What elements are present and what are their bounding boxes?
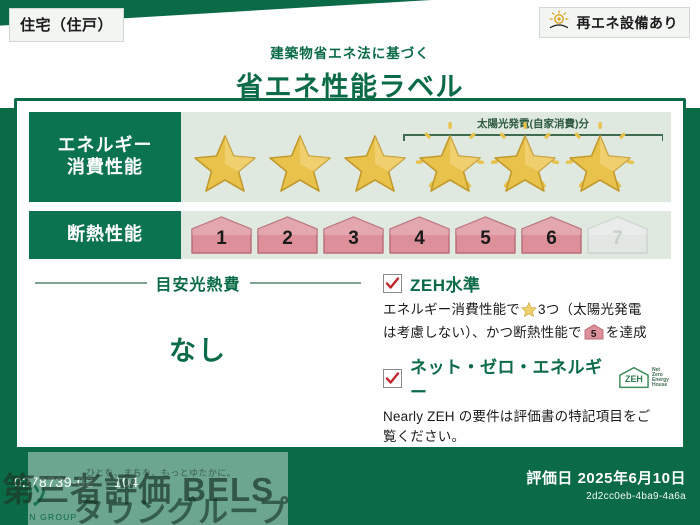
insulation-level-badge: 4 <box>388 215 451 255</box>
insulation-performance-value: 1234567 <box>181 211 671 259</box>
desc-part-1: Nearly ZEH の要件は評価書の特記項目をご <box>383 409 651 424</box>
page-title: 省エネ性能ラベル <box>0 65 700 104</box>
insulation-level-value: 4 <box>388 228 451 250</box>
insulation-badge-inline-value: 5 <box>584 328 604 343</box>
footer-left: 0278739-02 104 <box>14 474 139 490</box>
star-icon <box>414 122 487 192</box>
check-description-zeh-standard: エネルギー消費性能で3つ（太陽光発電は考慮しない）、かつ断熱性能で5を達成 <box>383 300 671 342</box>
star-rating <box>181 122 637 192</box>
insulation-performance-label-box: 断熱性能 <box>29 211 181 259</box>
utility-cost-panel: 目安光熱費 なし <box>29 271 377 447</box>
renewable-energy-label: 再エネ設備あり <box>577 13 679 33</box>
check-icon <box>385 371 400 386</box>
insulation-level-badge: 1 <box>190 215 253 255</box>
insulation-level-badge: 5 <box>454 215 517 255</box>
energy-performance-label-box: エネルギー 消費性能 <box>29 112 181 202</box>
check-title-row: ネット・ゼロ・エネルギー ZEH Net Zero Energy House <box>383 353 671 403</box>
evaluation-date-label: 評価日 <box>526 470 573 487</box>
energy-performance-value: 太陽光発電(自家消費)分 <box>181 112 671 202</box>
utility-cost-heading: 目安光熱費 <box>29 271 367 295</box>
zeh-logo-subtext: Net Zero Energy House <box>652 368 671 389</box>
certification-checks: ZEH水準 エネルギー消費性能で3つ（太陽光発電は考慮しない）、かつ断熱性能で5… <box>377 271 671 447</box>
star-icon <box>489 122 562 192</box>
insulation-level-value: 3 <box>322 228 385 250</box>
check-title-row: ZEH水準 <box>383 271 671 296</box>
check-icon <box>385 276 400 291</box>
insulation-level-badge: 3 <box>322 215 385 255</box>
desc-part-2: 3つ（太陽光発電 <box>538 302 642 317</box>
desc-part-3: は考慮しない）、かつ断熱性能で <box>383 325 582 340</box>
insulation-label: 断熱性能 <box>67 224 143 246</box>
checkbox-net-zero-energy[interactable] <box>383 369 402 388</box>
energy-label-line2: 消費性能 <box>67 157 143 179</box>
label-card: エネルギー 消費性能 太陽光発電(自家消費)分 断熱性能 1234567 <box>14 98 686 450</box>
certificate-number: 0278739-02 <box>14 474 94 490</box>
insulation-level-badge: 7 <box>586 215 649 255</box>
title-subtitle: 建築物省エネ法に基づく <box>0 42 700 62</box>
checkbox-zeh-standard[interactable] <box>383 274 402 293</box>
check-item-net-zero-energy: ネット・ゼロ・エネルギー ZEH Net Zero Energy House N… <box>383 353 671 446</box>
star-icon <box>339 122 412 192</box>
evaluation-date-value: 2025年6月10日 <box>578 470 686 487</box>
star-icon <box>564 122 637 192</box>
insulation-performance-row: 断熱性能 1234567 <box>29 211 671 259</box>
insulation-badge-inline: 5 <box>584 324 604 340</box>
housing-type-chip: 住宅（住戸） <box>9 8 124 42</box>
footer-bar: 0278739-02 104 評価日 2025年6月10日 2d2cc0eb-4… <box>0 452 700 525</box>
utility-cost-value: なし <box>29 329 367 368</box>
rule-right <box>250 282 362 284</box>
insulation-level-scale: 1234567 <box>181 215 649 255</box>
lower-section: 目安光熱費 なし ZEH水準 <box>29 271 671 447</box>
insulation-level-badge: 2 <box>256 215 319 255</box>
insulation-level-value: 1 <box>190 228 253 250</box>
energy-performance-label: 住宅（住戸） 再エネ設備あり 建築物省エネ法に基づく 省エネ性能ラベル <box>0 0 700 525</box>
rule-left <box>35 282 147 284</box>
star-icon <box>521 302 537 323</box>
insulation-level-value: 5 <box>454 228 517 250</box>
insulation-level-value: 6 <box>520 228 583 250</box>
document-uid: 2d2cc0eb-4ba9-4a6a <box>526 491 686 502</box>
desc-part-2: 覧ください。 <box>383 429 465 444</box>
title-block: 建築物省エネ法に基づく 省エネ性能ラベル <box>0 42 700 104</box>
energy-performance-row: エネルギー 消費性能 太陽光発電(自家消費)分 <box>29 112 671 202</box>
insulation-level-value: 7 <box>586 228 649 250</box>
utility-cost-title: 目安光熱費 <box>156 271 241 295</box>
check-item-zeh-standard: ZEH水準 エネルギー消費性能で3つ（太陽光発電は考慮しない）、かつ断熱性能で5… <box>383 271 671 342</box>
check-description-net-zero-energy: Nearly ZEH の要件は評価書の特記項目をご覧ください。 <box>383 407 671 446</box>
zeh-house-icon: ZEH <box>618 365 650 391</box>
renewable-energy-chip: 再エネ設備あり <box>539 7 691 38</box>
zeh-logo: ZEH Net Zero Energy House <box>618 365 671 391</box>
sun-icon <box>548 10 570 35</box>
insulation-level-value: 2 <box>256 228 319 250</box>
evaluation-date: 評価日 2025年6月10日 <box>526 467 686 488</box>
star-icon <box>189 122 262 192</box>
star-icon <box>264 122 337 192</box>
energy-label-line1: エネルギー <box>58 135 153 157</box>
footer-right: 評価日 2025年6月10日 2d2cc0eb-4ba9-4a6a <box>526 467 686 502</box>
svg-text:ZEH: ZEH <box>625 374 643 384</box>
desc-part-4: を達成 <box>606 325 647 340</box>
page-number: 104 <box>114 474 139 490</box>
check-label-net-zero-energy: ネット・ゼロ・エネルギー <box>410 353 607 403</box>
insulation-level-badge: 6 <box>520 215 583 255</box>
check-label-zeh-standard: ZEH水準 <box>410 271 481 296</box>
desc-part-1: エネルギー消費性能で <box>383 302 520 317</box>
